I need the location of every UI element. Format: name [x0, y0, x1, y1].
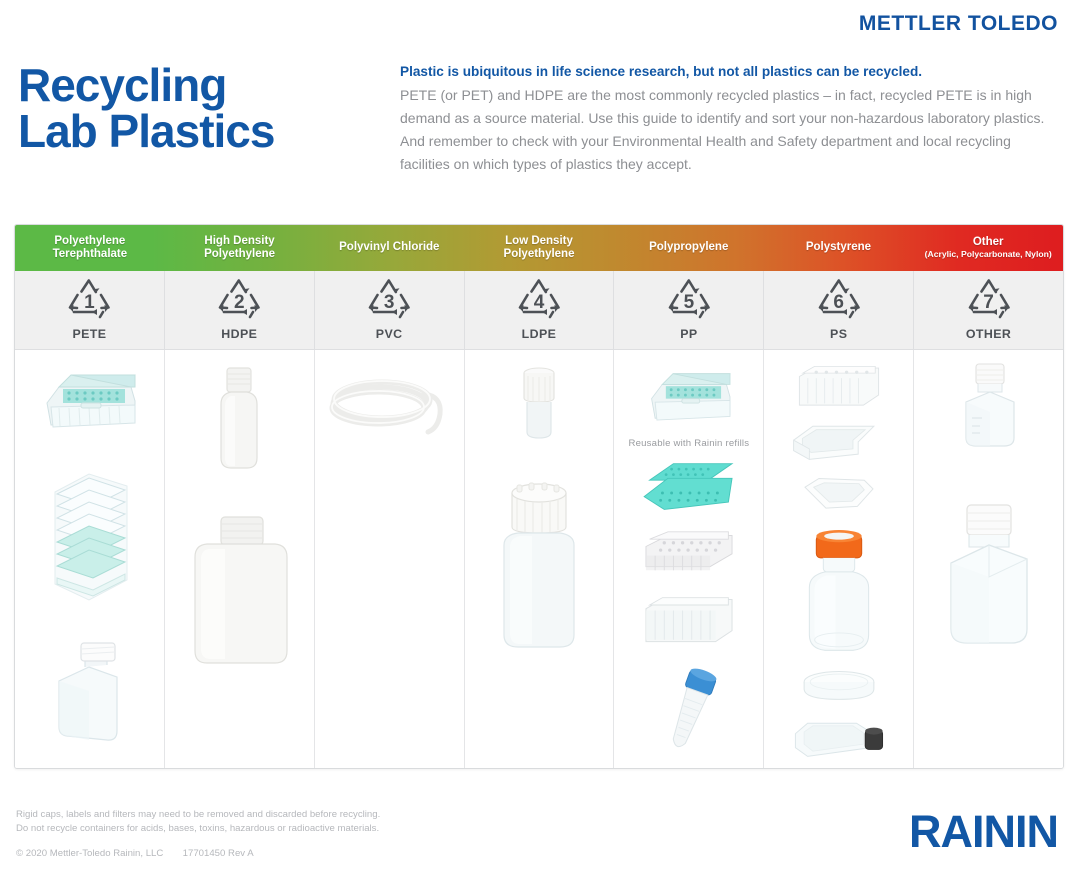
header-cell-hdpe: High Density Polyethylene: [165, 225, 315, 271]
header-cell-ldpe: Low Density Polyethylene: [464, 225, 614, 271]
recycling-symbol-row: 1 PETE 2 HDPE: [15, 271, 1063, 350]
pipette-tip-box-icon: [637, 363, 741, 429]
wide-mouth-bottle-large-icon: [484, 477, 594, 659]
header-name-7-sub: (Acrylic, Polycarbonate, Nylon): [925, 249, 1052, 260]
header-cell-ps: Polystyrene: [764, 225, 914, 271]
symbol-cell-ps: 6 PS: [764, 271, 914, 349]
header-name-7: Other: [973, 236, 1004, 248]
copyright-text: © 2020 Mettler-Toledo Rainin, LLC: [16, 848, 163, 859]
plastic-code-label: PVC: [376, 327, 403, 341]
recycling-symbol-icon: 6: [813, 279, 865, 326]
product-image-row: Reusable with Rainin refills: [15, 350, 1063, 768]
rectangular-bottle-large-icon: [179, 511, 299, 679]
product-cell-ldpe: [465, 350, 615, 768]
plastic-code-label: PP: [680, 327, 697, 341]
square-media-bottle-large-icon: [937, 501, 1041, 661]
poster-page: METTLER TOLEDO Recycling Lab Plastics Pl…: [0, 0, 1076, 872]
product-cell-hdpe: [165, 350, 315, 768]
header-cell-pvc: Polyvinyl Chloride: [314, 225, 464, 271]
mettler-toledo-logo: METTLER TOLEDO: [859, 12, 1058, 36]
recycling-symbol-icon: 7: [963, 279, 1015, 326]
header-name-4b: Polyethylene: [504, 248, 575, 260]
intro-body: PETE (or PET) and HDPE are the most comm…: [400, 84, 1060, 176]
recycling-symbol-icon: 2: [213, 279, 265, 326]
header-cell-other: Other (Acrylic, Polycarbonate, Nylon): [913, 225, 1063, 271]
header-name-5: Polypropylene: [649, 241, 728, 253]
petri-dish-icon: [791, 668, 887, 706]
recycling-symbol-icon: 3: [363, 279, 415, 326]
deep-well-plate-icon: [783, 363, 895, 414]
intro-block: Plastic is ubiquitous in life science re…: [400, 62, 1060, 176]
square-media-bottle-small-icon: [950, 360, 1028, 460]
conical-tube-blue-cap-icon: [646, 666, 732, 763]
reagent-reservoir-icon: [783, 421, 895, 466]
recycling-number: 1: [63, 292, 115, 314]
symbol-cell-hdpe: 2 HDPE: [165, 271, 315, 349]
copyright-line: © 2020 Mettler-Toledo Rainin, LLC 177014…: [16, 848, 254, 859]
recycling-number: 2: [213, 292, 265, 314]
recycling-symbol-icon: 5: [663, 279, 715, 326]
recycling-number: 6: [813, 292, 865, 314]
page-title-line2: Lab Plastics: [18, 108, 274, 154]
header-cell-pete: Polyethylene Terephthalate: [15, 225, 165, 271]
plastic-code-label: LDPE: [522, 327, 557, 341]
page-title-line1: Recycling: [18, 62, 274, 108]
intro-lede: Plastic is ubiquitous in life science re…: [400, 62, 1060, 82]
document-number: 17701450 Rev A: [183, 848, 254, 859]
culture-flask-black-cap-icon: [783, 718, 895, 763]
recycling-symbol-icon: 4: [513, 279, 565, 326]
weigh-boat-icon: [794, 475, 884, 515]
header-name-1: Polyethylene: [54, 235, 125, 247]
narrow-mouth-bottle-small-icon: [201, 362, 277, 484]
header-name-6: Polystyrene: [806, 241, 871, 253]
pipette-tip-box-icon: [35, 363, 143, 437]
product-cell-pvc: [315, 350, 465, 768]
header-name-2: High Density: [204, 235, 274, 247]
page-title: Recycling Lab Plastics: [18, 62, 274, 154]
symbol-cell-pp: 5 PP: [614, 271, 764, 349]
mettler-toledo-logo-text: METTLER TOLEDO: [859, 12, 1058, 35]
rainin-logo-text: RAININ: [909, 806, 1058, 857]
footnote-line2: Do not recycle containers for acids, bas…: [16, 822, 380, 836]
product-cell-pete: [15, 350, 165, 768]
plastics-table: Polyethylene Terephthalate High Density …: [14, 224, 1064, 769]
header-name-2b: Polyethylene: [204, 248, 275, 260]
plastic-code-label: PS: [830, 327, 847, 341]
deep-well-plate-icon: [632, 594, 746, 649]
recycling-number: 5: [663, 292, 715, 314]
header-name-3: Polyvinyl Chloride: [339, 241, 439, 253]
product-cell-pp: Reusable with Rainin refills: [614, 350, 764, 768]
square-media-bottle-icon: [41, 639, 137, 745]
recycling-number: 3: [363, 292, 415, 314]
orange-cap-bottle-icon: [787, 530, 891, 657]
rainin-logo: RAININ: [909, 806, 1058, 858]
symbol-cell-ldpe: 4 LDPE: [465, 271, 615, 349]
recycling-symbol-icon: 1: [63, 279, 115, 326]
recycling-number: 4: [513, 292, 565, 314]
header-name-4: Low Density: [505, 235, 573, 247]
footnote-line1: Rigid caps, labels and filters may need …: [16, 808, 380, 822]
symbol-cell-pvc: 3 PVC: [315, 271, 465, 349]
symbol-cell-pete: 1 PETE: [15, 271, 165, 349]
plastic-code-label: OTHER: [966, 327, 1011, 341]
cell-note-pp: Reusable with Rainin refills: [628, 438, 749, 449]
symbol-cell-other: 7 OTHER: [914, 271, 1063, 349]
stacked-tip-trays-icon: [35, 468, 143, 608]
header-cell-pp: Polypropylene: [614, 225, 764, 271]
table-header-row: Polyethylene Terephthalate High Density …: [15, 225, 1063, 271]
coiled-tubing-icon: [324, 370, 454, 454]
footnote-block: Rigid caps, labels and filters may need …: [16, 808, 380, 836]
96-well-plate-icon: [632, 530, 746, 581]
product-cell-ps: [764, 350, 914, 768]
product-cell-other: [914, 350, 1063, 768]
small-capped-bottle-icon: [512, 364, 566, 446]
recycling-number: 7: [963, 292, 1015, 314]
plastic-code-label: PETE: [72, 327, 106, 341]
header-name-1b: Terephthalate: [53, 248, 128, 260]
plastic-code-label: HDPE: [221, 327, 257, 341]
green-tip-trays-icon: [632, 460, 746, 517]
